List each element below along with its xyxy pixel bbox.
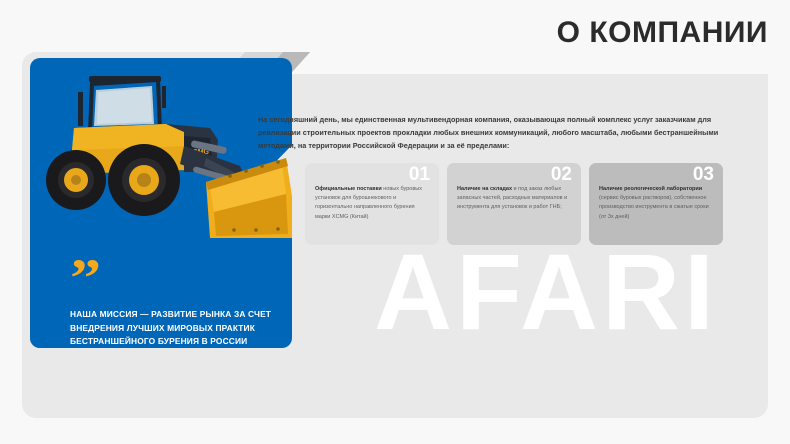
intro-paragraph: На сегодняшний день, мы единственная мул… [258, 114, 726, 152]
feature-card-list: 01Официальные поставки новых буровых уст… [305, 163, 723, 245]
feature-lead: Наличие на складах [457, 186, 512, 192]
feature-text: Наличие реологической лаборатории (серви… [599, 185, 713, 222]
page-title: О КОМПАНИИ [557, 18, 768, 48]
feature-card-02[interactable]: 02Наличие на складах и под заказ любых з… [447, 163, 581, 245]
quote-icon: ” [70, 258, 101, 299]
brand-watermark: AFARI [374, 238, 718, 346]
feature-card-01[interactable]: 01Официальные поставки новых буровых уст… [305, 163, 439, 245]
feature-card-03[interactable]: 03Наличие реологической лаборатории (сер… [589, 163, 723, 245]
feature-text: Официальные поставки новых буровых устан… [315, 185, 429, 222]
feature-lead: Наличие реологической лаборатории [599, 186, 702, 192]
decorative-stripe-white [290, 52, 768, 74]
feature-number: 01 [409, 165, 430, 184]
feature-rest: (сервис буровых растворов), собственное … [599, 195, 709, 219]
feature-text: Наличие на складах и под заказ любых зап… [457, 185, 571, 213]
feature-number: 03 [693, 165, 714, 184]
feature-lead: Официальные поставки [315, 186, 382, 192]
mission-statement: НАША МИССИЯ — РАЗВИТИЕ РЫНКА ЗА СЧЕТ ВНЕ… [70, 308, 280, 349]
feature-number: 02 [551, 165, 572, 184]
